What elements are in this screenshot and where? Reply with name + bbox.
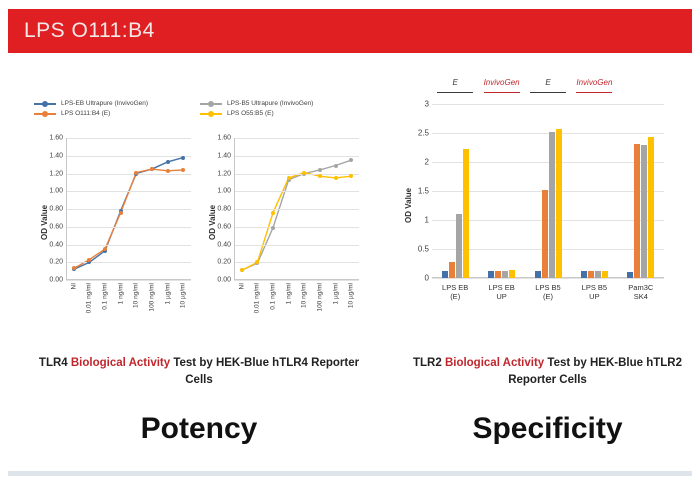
caption-left: TLR4 Biological Activity Test by HEK-Blu… (34, 355, 364, 388)
bar (634, 144, 640, 278)
gridline (234, 174, 359, 175)
data-point (318, 168, 322, 172)
x-axis-tick: 100 ng/ml (148, 283, 155, 312)
legend-swatch-icon (34, 103, 56, 105)
y-axis-tick: 0.40 (49, 241, 63, 248)
bar (627, 272, 633, 278)
plot-area-tlr2: 00.511.522.53LPS EB(E)LPS EBUPLPS B5(E)L… (432, 104, 664, 278)
y-axis-tick: 0.40 (217, 241, 231, 248)
y-axis-tick: 1.00 (217, 188, 231, 195)
caption-right: TLR2 Biological Activity Test by HEK-Blu… (405, 355, 690, 388)
caption-left-post: Test by HEK-Blue hTLR4 Reporter Cells (170, 357, 359, 386)
x-axis-tick: 10 µg/ml (180, 283, 187, 308)
chart-legend-eb: LPS-EB Ultrapure (InvivoGen)LPS O111:B4 … (34, 100, 199, 117)
plot-area-eb: 0.000.200.400.600.801.001.201.401.60NI0.… (66, 138, 191, 280)
legend-swatch-icon (34, 113, 56, 115)
bar (449, 262, 455, 278)
gridline (234, 156, 359, 157)
y-axis-line (234, 138, 235, 280)
bar (581, 271, 587, 278)
bar-group-header-rule (437, 92, 473, 93)
bar (509, 270, 515, 278)
y-axis-title-b5: OD Value (208, 205, 217, 240)
x-axis-tick: 1 µg/ml (332, 283, 339, 304)
data-point (271, 211, 275, 215)
y-axis-tick: 0.20 (217, 259, 231, 266)
x-axis-tick: Pam3C (611, 283, 671, 292)
chart-legend-b5: LPS-B5 Ultrapure (InvivoGen)LPS O55:B5 (… (200, 100, 370, 117)
bar (648, 137, 654, 278)
y-axis-tick: 1.00 (49, 188, 63, 195)
caption-left-highlight: Biological Activity (71, 357, 170, 369)
gridline (234, 245, 359, 246)
page-title: LPS O111:B4 (8, 19, 155, 43)
bar (495, 271, 501, 278)
gridline (66, 262, 191, 263)
data-point (302, 171, 306, 175)
label-specificity: Specificity (405, 412, 690, 446)
bar (556, 129, 562, 278)
y-axis-tick: 0.00 (217, 277, 231, 284)
data-point (255, 260, 259, 264)
data-point (334, 176, 338, 180)
x-axis-tick: 1 µg/ml (164, 283, 171, 304)
bar (463, 149, 469, 278)
x-axis-tick: SK4 (611, 292, 671, 301)
caption-right-pre: TLR2 (413, 357, 445, 369)
bar-group-header-rule (576, 92, 612, 93)
data-point (166, 169, 170, 173)
y-axis-tick: 0.80 (49, 206, 63, 213)
slide: LPS O111:B4 LPS-EB Ultrapure (InvivoGen)… (0, 0, 700, 484)
data-point (181, 168, 185, 172)
legend-item: LPS-EB Ultrapure (InvivoGen) (34, 100, 199, 107)
y-axis-tick: 1 (425, 216, 429, 225)
y-axis-tick: 2 (425, 158, 429, 167)
chart-panel-eb: LPS-EB Ultrapure (InvivoGen)LPS O111:B4 … (34, 100, 199, 300)
bar-group-headers: EInvivoGenEInvivoGen (400, 78, 680, 100)
legend-swatch-icon (200, 113, 222, 115)
x-axis-tick: 1 ng/ml (285, 283, 292, 304)
y-axis-title-eb: OD Value (40, 205, 49, 240)
y-axis-title-tlr2: OD Value (404, 188, 413, 223)
gridline (234, 191, 359, 192)
y-axis-tick: 0.00 (49, 277, 63, 284)
y-axis-tick: 1.60 (49, 135, 63, 142)
y-axis-tick: 1.5 (418, 187, 429, 196)
caption-right-highlight: Biological Activity (445, 357, 544, 369)
legend-item: LPS O55:B5 (E) (200, 110, 370, 117)
chart-panel-tlr2: EInvivoGenEInvivoGen 00.511.522.53LPS EB… (400, 78, 680, 308)
bar-group-header-label: InvivoGen (576, 78, 612, 87)
legend-label: LPS-B5 Ultrapure (InvivoGen) (227, 100, 313, 107)
data-point (334, 164, 338, 168)
x-axis-line (66, 279, 191, 280)
label-potency: Potency (34, 412, 364, 446)
data-point (287, 176, 291, 180)
x-axis-line (234, 279, 359, 280)
chart-panel-b5: LPS-B5 Ultrapure (InvivoGen)LPS O55:B5 (… (200, 100, 370, 300)
legend-label: LPS-EB Ultrapure (InvivoGen) (61, 100, 148, 107)
gridline (66, 138, 191, 139)
data-point (150, 167, 154, 171)
y-axis-tick: 1.20 (49, 170, 63, 177)
bar (442, 271, 448, 278)
y-axis-tick: 1.40 (49, 152, 63, 159)
x-axis-tick: 0.01 ng/ml (86, 283, 93, 313)
data-point (271, 226, 275, 230)
y-axis-line (66, 138, 67, 280)
gridline (234, 262, 359, 263)
y-axis-tick: 0.80 (217, 206, 231, 213)
gridline (234, 227, 359, 228)
gridline (66, 174, 191, 175)
bar (641, 145, 647, 278)
bar (588, 271, 594, 278)
bar (542, 190, 548, 278)
y-axis-tick: 1.20 (217, 170, 231, 177)
data-point (72, 266, 76, 270)
bar-group-header-label: E (545, 78, 550, 87)
bar (535, 271, 541, 278)
gridline (234, 209, 359, 210)
legend-label: LPS O111:B4 (E) (61, 110, 110, 117)
bar-group-header-rule (484, 92, 520, 93)
title-banner: LPS O111:B4 (8, 9, 692, 53)
bar (549, 132, 555, 278)
x-axis-tick: 1 ng/ml (117, 283, 124, 304)
y-axis-tick: 3 (425, 100, 429, 109)
gridline (66, 191, 191, 192)
bar-group-header-rule (530, 92, 566, 93)
gridline (432, 104, 664, 105)
data-point (103, 247, 107, 251)
x-axis-tick: 0.1 ng/ml (270, 283, 277, 310)
footer-divider (8, 471, 692, 476)
data-point (87, 258, 91, 262)
y-axis-tick: 0.20 (49, 259, 63, 266)
data-point (119, 211, 123, 215)
bar (602, 271, 608, 278)
x-axis-tick: 100 ng/ml (316, 283, 323, 312)
gridline (234, 138, 359, 139)
x-axis-tick: NI (238, 283, 245, 290)
gridline (66, 209, 191, 210)
y-axis-tick: 0.60 (217, 223, 231, 230)
data-point (318, 174, 322, 178)
y-axis-tick: 0.60 (49, 223, 63, 230)
bar-group-header-label: E (453, 78, 458, 87)
data-point (134, 171, 138, 175)
x-axis-category-label: Pam3CSK4 (611, 283, 671, 302)
bar-group-header-label: InvivoGen (484, 78, 520, 87)
gridline (66, 245, 191, 246)
plot-area-b5: 0.000.200.400.600.801.001.201.401.60NI0.… (234, 138, 359, 280)
y-axis-tick: 0 (425, 274, 429, 283)
gridline (432, 278, 664, 279)
data-point (240, 268, 244, 272)
caption-left-pre: TLR4 (39, 357, 71, 369)
gridline (66, 227, 191, 228)
x-axis-tick: NI (70, 283, 77, 290)
gridline (66, 156, 191, 157)
gridline (234, 280, 359, 281)
data-point (349, 158, 353, 162)
y-axis-tick: 1.40 (217, 152, 231, 159)
y-axis-tick: 0.5 (418, 245, 429, 254)
x-axis-tick: 0.01 ng/ml (254, 283, 261, 313)
legend-item: LPS O111:B4 (E) (34, 110, 199, 117)
legend-label: LPS O55:B5 (E) (227, 110, 274, 117)
bar (595, 271, 601, 278)
bar (488, 271, 494, 278)
y-axis-tick: 2.5 (418, 129, 429, 138)
x-axis-tick: 0.1 ng/ml (102, 283, 109, 310)
data-point (181, 156, 185, 160)
data-point (349, 174, 353, 178)
x-axis-tick: 10 ng/ml (301, 283, 308, 308)
data-point (166, 160, 170, 164)
bar (502, 271, 508, 278)
legend-swatch-icon (200, 103, 222, 105)
x-axis-tick: 10 ng/ml (133, 283, 140, 308)
y-axis-tick: 1.60 (217, 135, 231, 142)
legend-item: LPS-B5 Ultrapure (InvivoGen) (200, 100, 370, 107)
x-axis-tick: 10 µg/ml (348, 283, 355, 308)
bar (456, 214, 462, 278)
gridline (66, 280, 191, 281)
